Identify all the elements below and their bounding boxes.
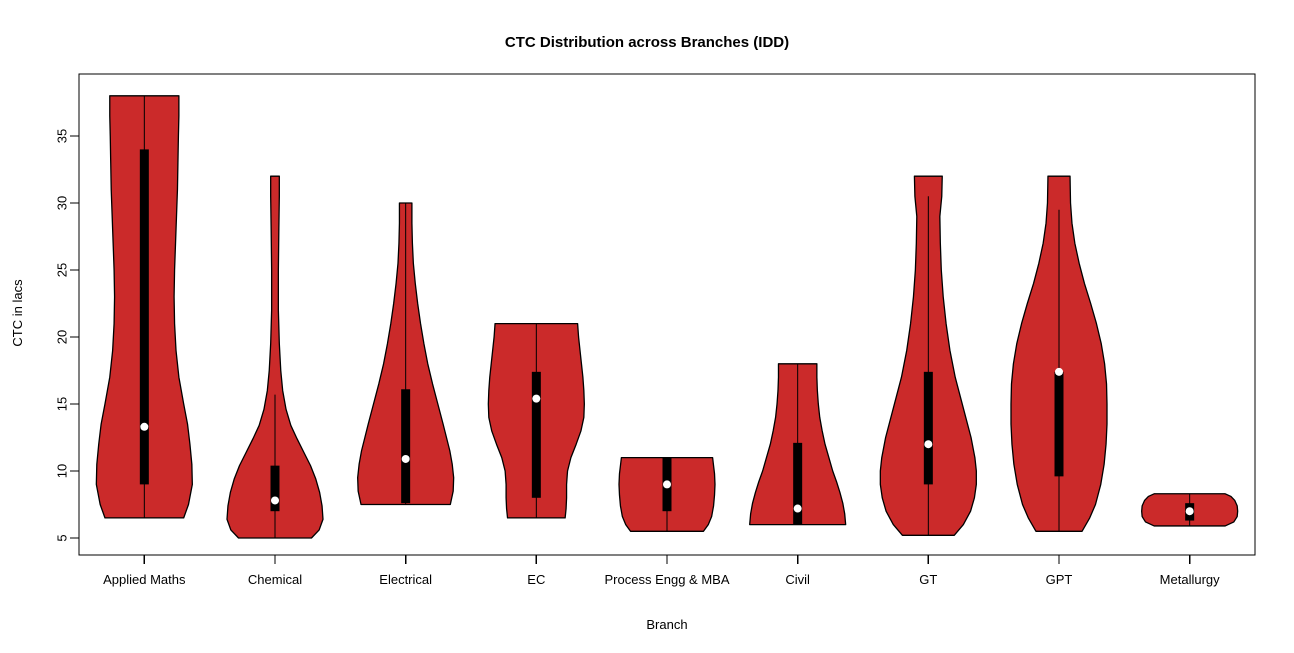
x-tick-label-chemical: Chemical — [248, 572, 302, 587]
violin-metallurgy[interactable] — [1142, 494, 1238, 526]
median-marker — [532, 395, 540, 403]
violin-civil[interactable] — [750, 364, 846, 525]
page-title: CTC Distribution across Branches (IDD) — [505, 34, 789, 51]
median-marker — [140, 423, 148, 431]
x-tick-label-gpt: GPT — [1046, 572, 1073, 587]
x-tick-label-applied-maths: Applied Maths — [103, 572, 186, 587]
y-tick-label: 15 — [54, 397, 69, 411]
median-marker — [663, 480, 671, 488]
x-tick-label-electrical: Electrical — [379, 572, 432, 587]
y-axis: 5101520253035 — [54, 129, 79, 542]
y-tick-label: 20 — [54, 330, 69, 344]
median-marker — [794, 505, 802, 513]
iqr-box — [1055, 372, 1064, 477]
violin-gpt[interactable] — [1011, 176, 1107, 531]
iqr-box — [532, 372, 541, 498]
median-marker — [924, 440, 932, 448]
iqr-box — [140, 149, 149, 484]
y-tick-label: 35 — [54, 129, 69, 143]
median-marker — [1186, 507, 1194, 515]
y-tick-label: 10 — [54, 464, 69, 478]
violin-gt[interactable] — [880, 176, 976, 535]
median-marker — [402, 455, 410, 463]
violin-chemical[interactable] — [227, 176, 323, 538]
violin-series-group — [96, 96, 1237, 538]
violin-plot-figure: CTC Distribution across Branches (IDD) B… — [0, 0, 1294, 653]
violin-applied-maths[interactable] — [96, 96, 192, 518]
y-tick-label: 30 — [54, 196, 69, 210]
iqr-box — [401, 389, 410, 503]
chart-canvas: CTC Distribution across Branches (IDD) B… — [0, 0, 1294, 653]
iqr-box — [924, 372, 933, 485]
violin-ec[interactable] — [488, 324, 584, 518]
violin-electrical[interactable] — [358, 203, 454, 505]
x-tick-label-process-engg-mba: Process Engg & MBA — [605, 572, 730, 587]
y-tick-label: 5 — [54, 534, 69, 541]
violin-process-engg-mba[interactable] — [619, 458, 715, 532]
y-axis-title: CTC in lacs — [10, 279, 25, 347]
median-marker — [271, 496, 279, 504]
x-axis-title: Branch — [646, 617, 687, 632]
median-marker — [1055, 368, 1063, 376]
x-tick-label-gt: GT — [919, 572, 937, 587]
x-tick-label-ec: EC — [527, 572, 545, 587]
x-axis: Applied MathsChemicalElectricalECProcess… — [103, 555, 1220, 587]
x-tick-label-civil: Civil — [785, 572, 810, 587]
x-tick-label-metallurgy: Metallurgy — [1160, 572, 1220, 587]
y-tick-label: 25 — [54, 263, 69, 277]
